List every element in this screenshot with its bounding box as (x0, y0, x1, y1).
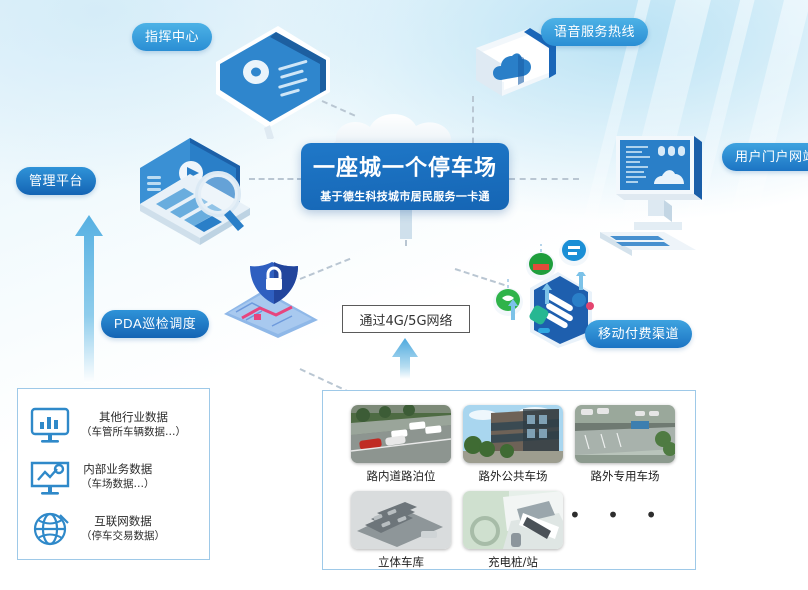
globe-network-icon (28, 509, 72, 549)
gallery-caption: 路外专用车场 (575, 468, 675, 484)
data-source-row[interactable]: 内部业务数据 （车场数据…） (28, 451, 203, 503)
connector-laptop (249, 178, 303, 180)
data-source-title: 其他行业数据 (81, 410, 186, 425)
label-pda-patrol[interactable]: PDA巡检调度 (101, 310, 209, 338)
gallery-caption: 路内道路泊位 (351, 468, 451, 484)
gallery-item[interactable]: 路内道路泊位 (351, 405, 451, 484)
thumbnail-ev-charging (463, 491, 563, 549)
network-label-text: 通过4G/5G网络 (359, 310, 452, 329)
desktop-monitor-illustration (586, 128, 712, 258)
data-source-note: （车场数据…） (81, 477, 155, 492)
gallery-caption: 路外公共车场 (463, 468, 563, 484)
connector-user-portal (509, 178, 579, 180)
data-source-note: （车管所车辆数据…） (81, 425, 186, 440)
mobile-payment-up-arrows (498, 272, 594, 324)
data-source-row[interactable]: 互联网数据 （停车交易数据） (28, 503, 203, 555)
command-center-monitor-illustration (208, 24, 338, 139)
data-source-title: 内部业务数据 (81, 462, 155, 477)
label-voice-hotline[interactable]: 语音服务热线 (541, 18, 648, 46)
thumbnail-public-lot-building (463, 405, 563, 463)
data-source-title: 互联网数据 (81, 514, 165, 529)
monitor-line-chart-icon (28, 457, 72, 497)
gallery-item[interactable]: 充电桩/站 (463, 491, 563, 570)
label-mobile-payment[interactable]: 移动付费渠道 (585, 320, 692, 348)
thumbnail-street-parking (351, 405, 451, 463)
main-banner: 一座城一个停车场 基于德生科技城市居民服务一卡通 (301, 143, 509, 210)
gallery-caption: 充电桩/站 (463, 554, 563, 570)
label-command-center[interactable]: 指挥中心 (132, 23, 212, 51)
label-management-platform[interactable]: 管理平台 (16, 167, 96, 195)
network-label-box: 通过4G/5G网络 (342, 305, 470, 333)
pda-shield-map-illustration (218, 258, 328, 340)
thumbnail-multilevel-garage (351, 491, 451, 549)
gallery-item[interactable]: 路外专用车场 (575, 405, 675, 484)
gallery-caption: 立体车库 (351, 554, 451, 570)
monitor-bar-chart-icon (28, 405, 72, 445)
gallery-item[interactable]: 立体车库 (351, 491, 451, 570)
data-source-note: （停车交易数据） (81, 529, 165, 544)
gallery-item[interactable]: 路外公共车场 (463, 405, 563, 484)
diagram-canvas: 一座城一个停车场 基于德生科技城市居民服务一卡通 (0, 0, 808, 590)
parking-scenarios-panel: 路内道路泊位 路外公共车场 (322, 390, 696, 570)
data-sources-panel: 其他行业数据 （车管所车辆数据…） 内部业务数据 （车场数据…） (17, 388, 210, 560)
data-flow-arrow-network (389, 336, 421, 380)
banner-title: 一座城一个停车场 (301, 150, 509, 182)
label-user-portal[interactable]: 用户门户网站 (722, 143, 808, 171)
thumbnail-private-lot-aerial (575, 405, 675, 463)
banner-subtitle: 基于德生科技城市居民服务一卡通 (301, 188, 509, 204)
data-source-row[interactable]: 其他行业数据 （车管所车辆数据…） (28, 399, 203, 451)
gallery-more-indicator: • • • (569, 503, 667, 527)
laptop-illustration (90, 132, 255, 247)
